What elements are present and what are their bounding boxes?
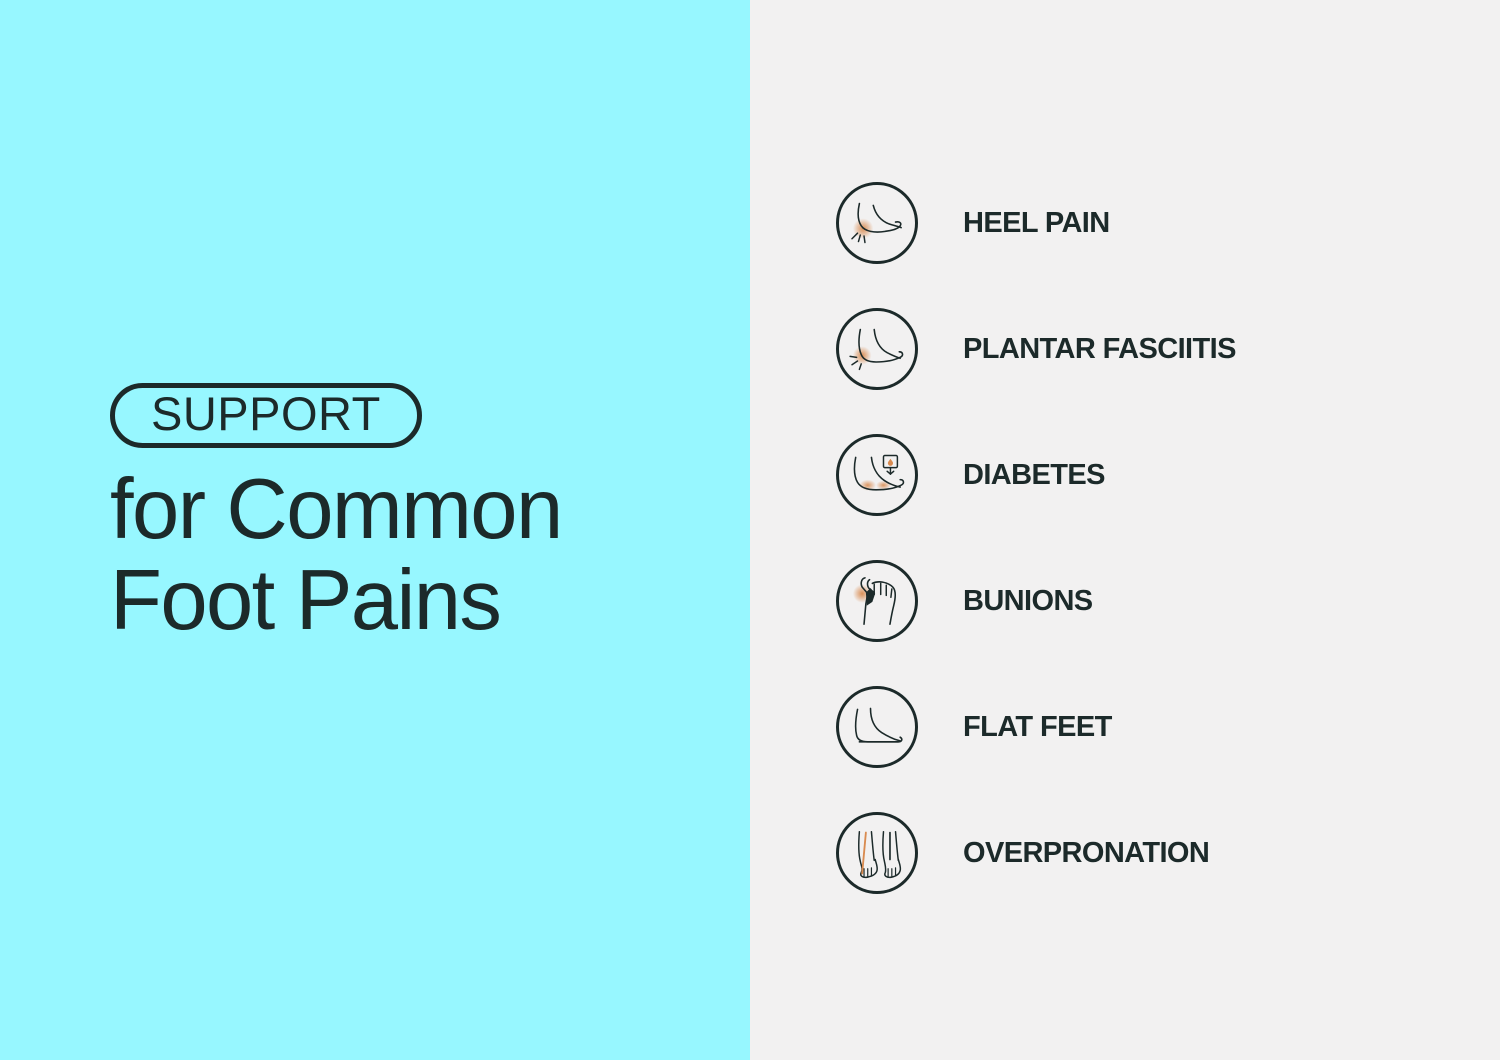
left-panel: SUPPORT for Common Foot Pains — [0, 0, 750, 1060]
condition-list: HEEL PAIN — [836, 182, 1236, 894]
diabetes-foot-icon — [836, 434, 918, 516]
bunions-icon — [836, 560, 918, 642]
headline-block: SUPPORT for Common Foot Pains — [110, 383, 710, 647]
condition-label: FLAT FEET — [963, 711, 1112, 744]
condition-label: OVERPRONATION — [963, 837, 1209, 870]
list-item: BUNIONS — [836, 560, 1236, 642]
heel-pain-icon — [836, 182, 918, 264]
headline-line-1: for Common — [110, 465, 710, 556]
list-item: HEEL PAIN — [836, 182, 1236, 264]
condition-label: DIABETES — [963, 459, 1105, 492]
list-item: OVERPRONATION — [836, 812, 1236, 894]
condition-label: BUNIONS — [963, 585, 1093, 618]
headline-line-2: Foot Pains — [110, 556, 710, 647]
plantar-fasciitis-icon — [836, 308, 918, 390]
right-panel: HEEL PAIN — [750, 0, 1500, 1060]
flat-feet-icon — [836, 686, 918, 768]
condition-label: HEEL PAIN — [963, 207, 1110, 240]
page-title: for Common Foot Pains — [110, 465, 710, 647]
list-item: FLAT FEET — [836, 686, 1236, 768]
overpronation-icon — [836, 812, 918, 894]
poster: SUPPORT for Common Foot Pains — [0, 0, 1500, 1060]
condition-label: PLANTAR FASCIITIS — [963, 333, 1236, 366]
list-item: PLANTAR FASCIITIS — [836, 308, 1236, 390]
list-item: DIABETES — [836, 434, 1236, 516]
support-badge: SUPPORT — [110, 383, 422, 448]
support-badge-label: SUPPORT — [151, 390, 381, 437]
